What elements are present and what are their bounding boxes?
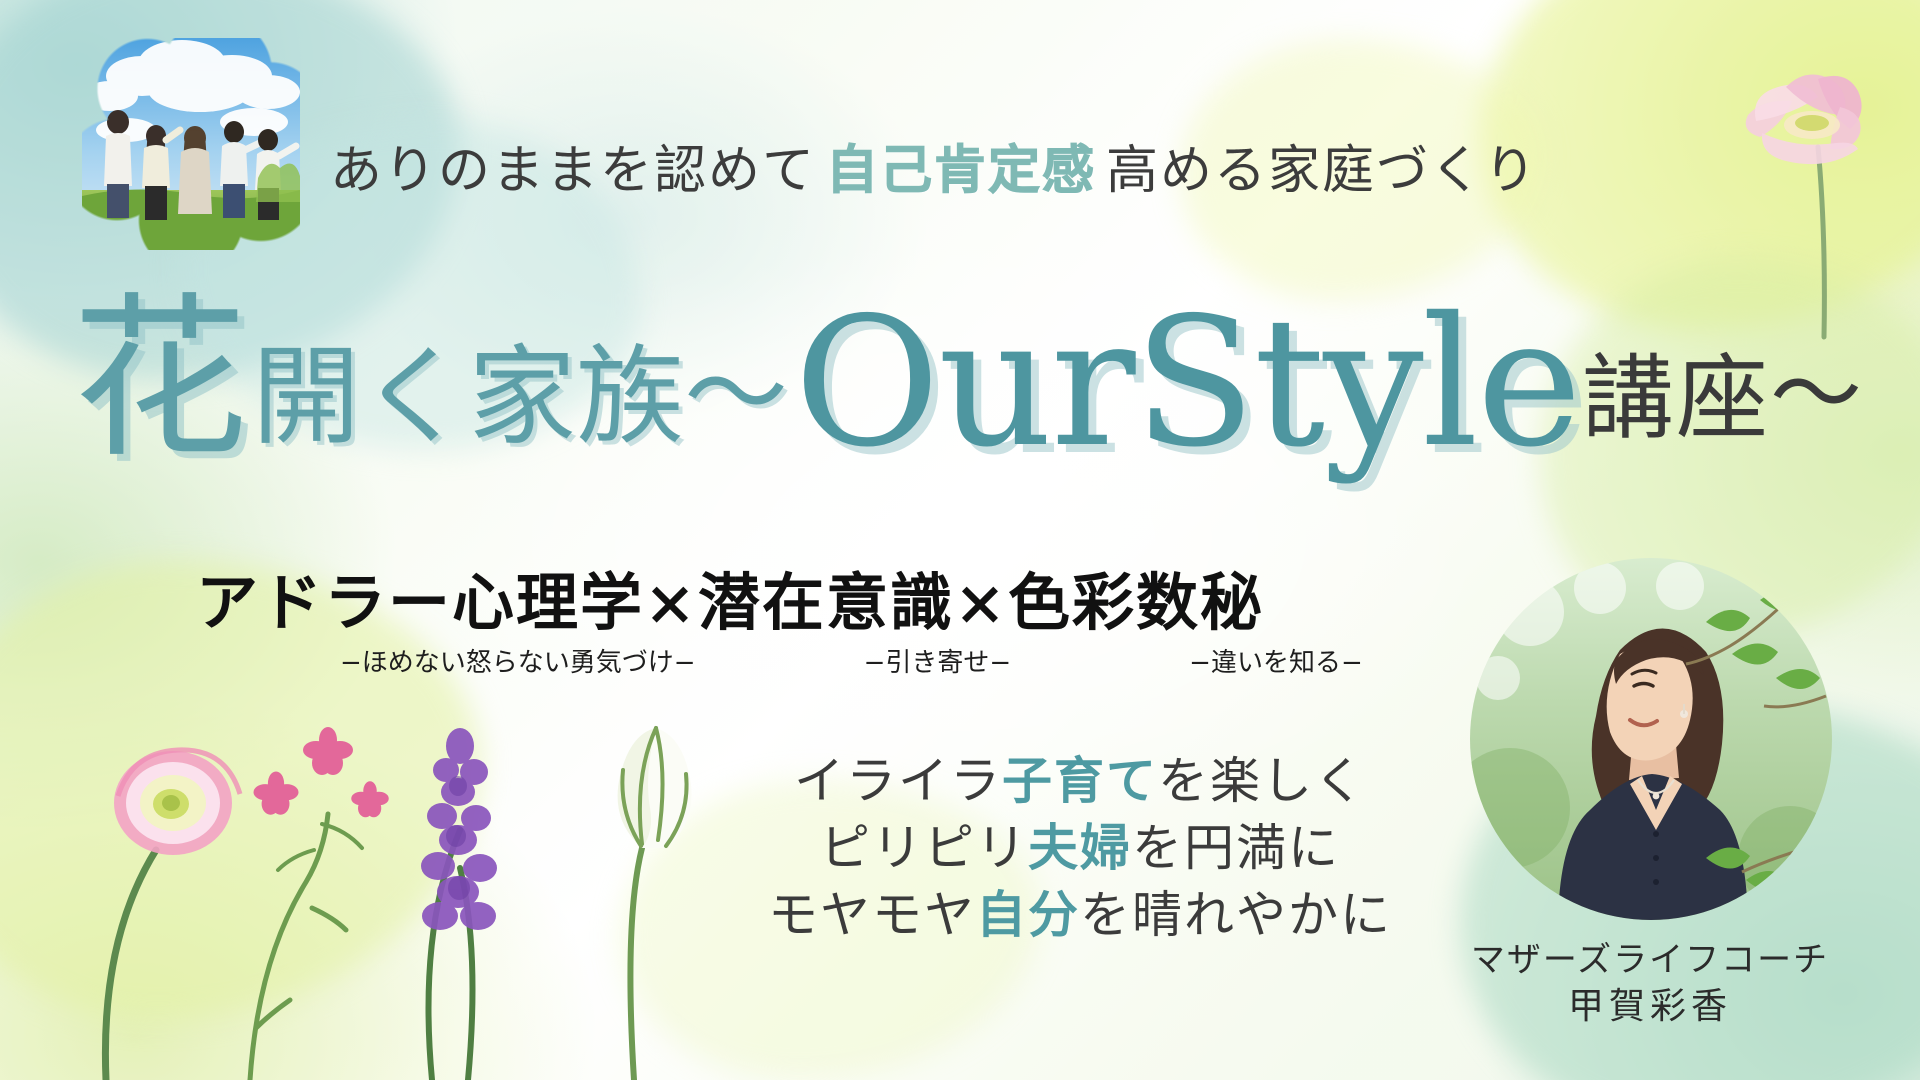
caption-1: −ほめない怒らない勇気づけ− <box>340 642 696 679</box>
catchphrase-part2: 高める家庭づくり <box>1106 128 1538 203</box>
watercolor-flowers-row <box>60 700 700 1080</box>
caption-2: −引き寄せ− <box>864 642 1012 679</box>
benefit-3-post: を晴れやかに <box>1080 886 1392 944</box>
catchphrase: ありのままを認めて 自己肯定感 高める家庭づくり <box>330 125 1710 205</box>
benefit-2-post: を円満に <box>1132 819 1340 877</box>
title-wave-right: 〜 <box>1770 320 1862 453</box>
benefit-3-highlight: 自分 <box>976 886 1080 944</box>
family-photo <box>82 38 300 250</box>
benefit-2-pre: ピリピリ <box>820 819 1028 877</box>
main-title: 花 開く家族 〜 OurStyle 講座 〜 <box>72 290 1862 480</box>
coach-name: 甲賀彩香 <box>1440 983 1860 1031</box>
benefit-line-1: イライラ子育てを楽しく <box>740 748 1420 815</box>
title-kouza: 講座 <box>1582 324 1770 457</box>
catchphrase-part1: ありのままを認めて <box>330 128 816 203</box>
caption-row: −ほめない怒らない勇気づけ− −引き寄せ− −違いを知る− <box>330 640 1450 680</box>
title-wave-left: 〜 <box>684 309 788 460</box>
title-hiraku-kazoku: 開く家族 <box>252 344 684 452</box>
coach-role: マザーズライフコーチ <box>1440 938 1860 983</box>
benefit-line-2: ピリピリ夫婦を円満に <box>740 815 1420 882</box>
benefit-1-highlight: 子育て <box>1002 752 1158 810</box>
benefit-3-pre: モヤモヤ <box>768 886 976 944</box>
benefit-line-3: モヤモヤ自分を晴れやかに <box>740 882 1420 949</box>
title-hana: 花 <box>72 292 248 468</box>
benefits-block: イライラ子育てを楽しく ピリピリ夫婦を円満に モヤモヤ自分を晴れやかに <box>740 748 1420 949</box>
coach-info: マザーズライフコーチ 甲賀彩香 <box>1440 938 1860 1030</box>
title-ourstyle: OurStyle <box>794 294 1580 472</box>
banner-root: ありのままを認めて 自己肯定感 高める家庭づくり 花 開く家族 〜 OurSty… <box>0 0 1920 1080</box>
caption-3: −違いを知る− <box>1189 642 1363 679</box>
coach-portrait <box>1470 558 1832 920</box>
benefit-2-highlight: 夫婦 <box>1028 819 1132 877</box>
benefit-1-pre: イライラ <box>794 752 1002 810</box>
benefit-1-post: を楽しく <box>1158 752 1366 810</box>
subtitle: アドラー心理学×潜在意識×色彩数秘 <box>0 552 1460 642</box>
catchphrase-highlight: 自己肯定感 <box>826 128 1096 203</box>
